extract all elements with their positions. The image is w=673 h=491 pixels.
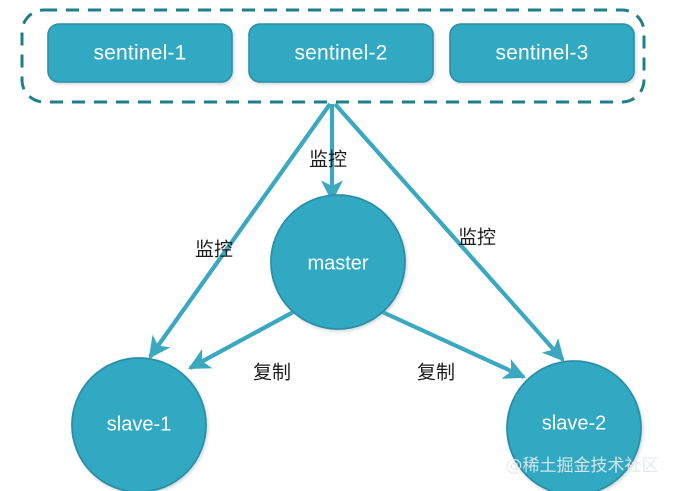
edge-master-to-slave-1: [190, 310, 297, 368]
sentinel-1-label: sentinel-1: [93, 42, 186, 65]
sentinel-3-node[interactable]: sentinel-3: [450, 24, 634, 82]
edge-label-sentinel-to-master: 监控: [309, 149, 347, 171]
master-label: master: [307, 252, 368, 274]
edge-label-sentinel-to-slave-1: 监控: [195, 239, 233, 261]
edge-label-master-to-slave-1: 复制: [253, 362, 291, 384]
slave-2-label: slave-2: [542, 412, 606, 434]
diagram-svg: sentinel-1 sentinel-2 sentinel-3 master …: [0, 0, 673, 491]
sentinel-cluster-group[interactable]: sentinel-1 sentinel-2 sentinel-3: [22, 10, 644, 102]
sentinel-2-node[interactable]: sentinel-2: [249, 24, 433, 82]
sentinel-2-label: sentinel-2: [294, 42, 387, 65]
slave-1-node[interactable]: slave-1: [72, 358, 206, 491]
diagram-canvas: sentinel-1 sentinel-2 sentinel-3 master …: [0, 0, 673, 491]
edge-label-sentinel-to-slave-2: 监控: [458, 227, 496, 249]
edge-label-master-to-slave-2: 复制: [417, 362, 455, 384]
watermark: @稀土掘金技术社区: [506, 456, 659, 476]
sentinel-3-label: sentinel-3: [495, 42, 588, 65]
master-node[interactable]: master: [271, 195, 405, 329]
sentinel-1-node[interactable]: sentinel-1: [48, 24, 232, 82]
slave-1-label: slave-1: [107, 413, 171, 435]
